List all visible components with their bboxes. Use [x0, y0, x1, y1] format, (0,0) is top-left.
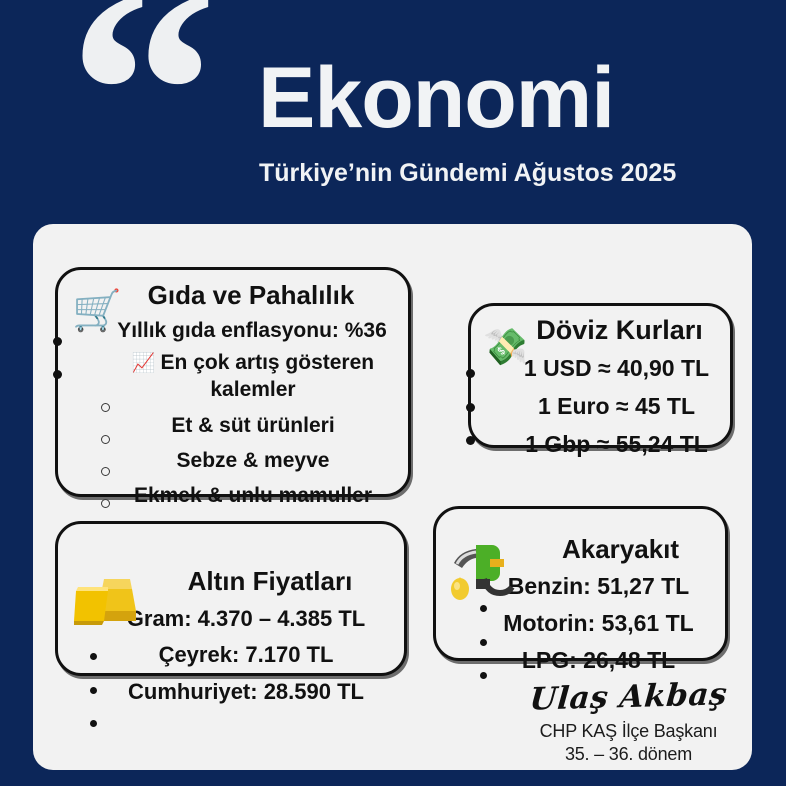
content-panel: 🛒 Gıda ve Pahalılık Yıllık gıda enflasyo… — [33, 224, 752, 770]
gold-price: Cumhuriyet: 28.590 TL — [58, 678, 404, 707]
fuel-pump-emoji — [446, 539, 518, 609]
infographic-canvas: “ Ekonomi Türkiye’nin Gündemi Ağustos 20… — [0, 0, 786, 786]
card-gold-prices: Altın Fiyatları Gram: 4.370 – 4.385 TL Ç… — [55, 521, 407, 676]
gold-price: Çeyrek: 7.170 TL — [58, 641, 404, 670]
groceries-emoji: 🛒 — [72, 291, 122, 331]
food-item: Et & süt ürünleri — [58, 412, 408, 439]
card-exchange-rates: 💸 Döviz Kurları 1 USD ≈ 40,90 TL 1 Euro … — [468, 303, 733, 448]
bullet-marker — [480, 605, 487, 612]
fx-rate: 1 Euro ≈ 45 TL — [471, 392, 730, 422]
bullet-marker — [90, 720, 97, 727]
bullet-marker — [466, 436, 475, 445]
signature-name: Ulaş Akbaş — [519, 676, 737, 718]
bullet-marker — [53, 337, 62, 346]
sub-bullet-marker — [101, 499, 110, 508]
signature-block: Ulaş Akbaş CHP KAŞ İlçe Başkanı 35. – 36… — [521, 679, 736, 765]
card-food-inflation: 🛒 Gıda ve Pahalılık Yıllık gıda enflasyo… — [55, 267, 411, 497]
food-top-risers-line: 📈En çok artış gösteren kalemler — [58, 349, 408, 404]
fuel-price: Motorin: 53,61 TL — [436, 609, 725, 639]
sub-bullet-marker — [101, 403, 110, 412]
bullet-marker — [466, 403, 475, 412]
bullet-marker — [53, 370, 62, 379]
food-item: Ekmek & unlu mamuller — [58, 482, 408, 509]
gold-bars-emoji — [74, 577, 136, 632]
food-item: Sebze & meyve — [58, 447, 408, 474]
bullet-marker — [90, 653, 97, 660]
sub-bullet-marker — [101, 435, 110, 444]
fx-rate: 1 Gbp ≈ 55,24 TL — [471, 430, 730, 460]
header: “ Ekonomi Türkiye’nin Gündemi Ağustos 20… — [0, 0, 786, 212]
money-stack-emoji: 💸 — [483, 329, 528, 365]
signature-role: CHP KAŞ İlçe Başkanı — [521, 721, 736, 742]
bullet-marker — [480, 672, 487, 679]
double-quote-icon: “ — [68, 0, 208, 242]
gold-bars-icon — [74, 577, 136, 625]
card-fuel-prices: Akaryakıt Benzin: 51,27 TL Motorin: 53,6… — [433, 506, 728, 661]
bullet-marker — [480, 639, 487, 646]
bullet-marker — [90, 687, 97, 694]
chart-increasing-emoji: 📈 — [132, 353, 156, 374]
bullet-marker — [466, 369, 475, 378]
food-top-risers-label: En çok artış gösteren kalemler — [161, 351, 375, 401]
fuel-pump-icon — [446, 539, 518, 605]
sub-bullet-marker — [101, 467, 110, 476]
signature-term: 35. – 36. dönem — [521, 744, 736, 765]
fuel-price: LPG: 26,48 TL — [436, 646, 725, 676]
page-subtitle: Türkiye’nin Gündemi Ağustos 2025 — [259, 159, 676, 188]
page-title: Ekonomi — [258, 55, 614, 141]
